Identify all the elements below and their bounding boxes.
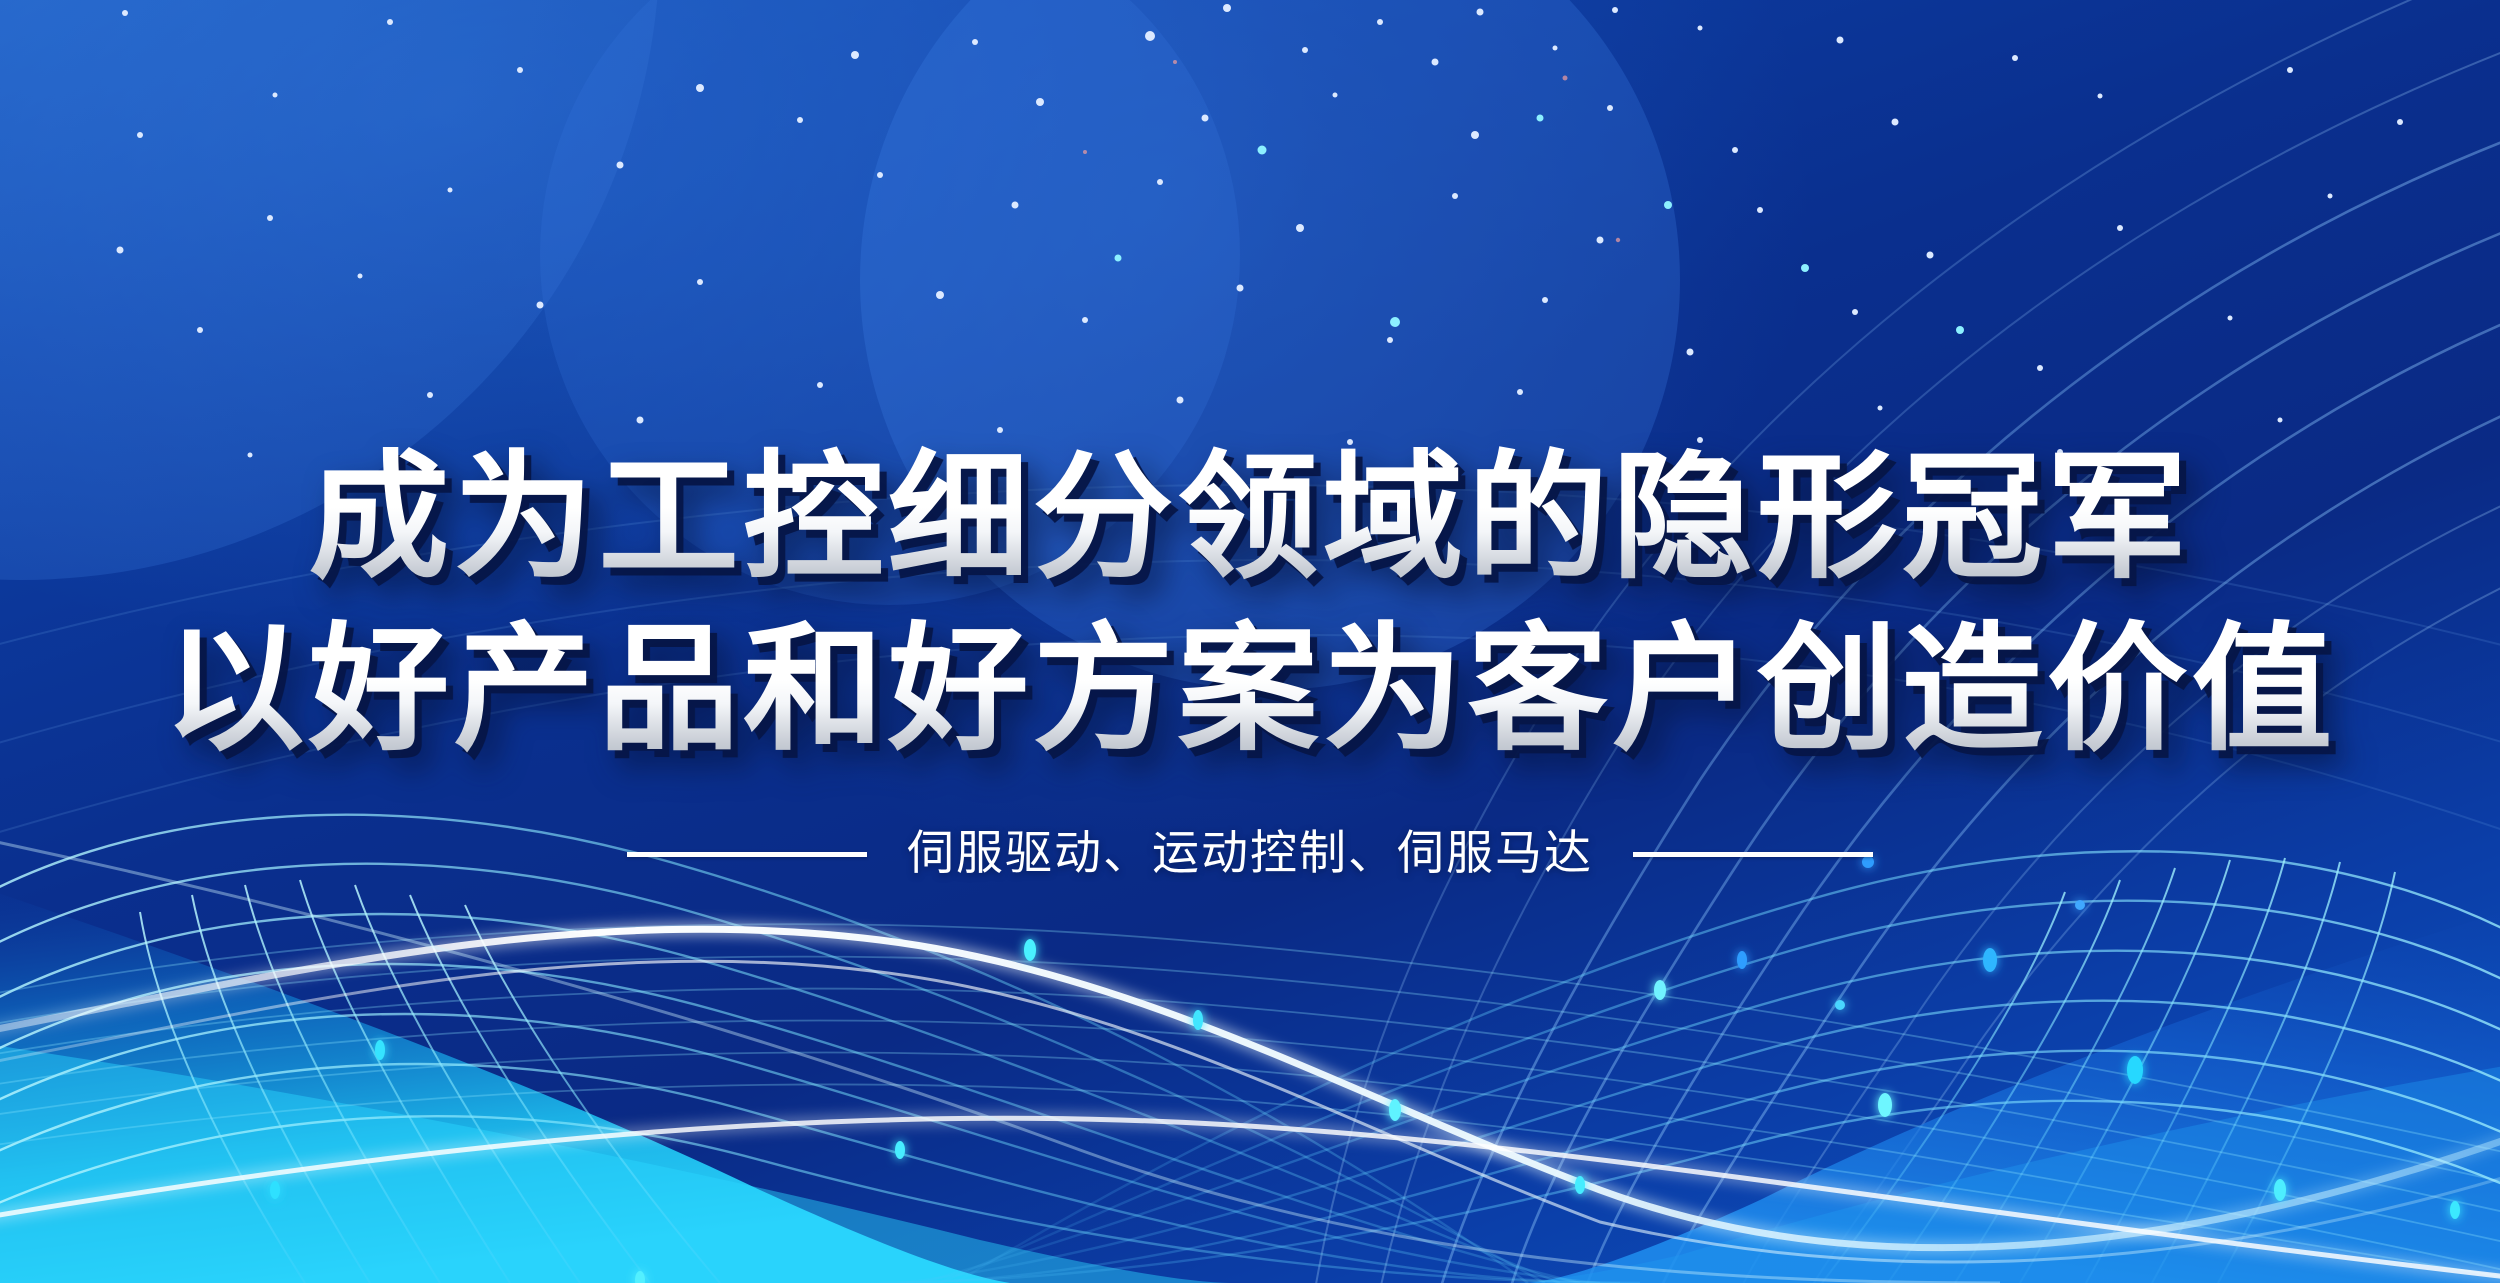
subtitle-rule-left (627, 852, 867, 857)
subtitle-text: 伺服驱动、运动控制、伺服马达 (907, 824, 1593, 884)
headline-block: 成为工控细分领域的隐形冠军 以好产品和好方案为客户创造价值 (0, 432, 2500, 776)
subtitle-block: 伺服驱动、运动控制、伺服马达 (0, 824, 2500, 884)
subtitle-rule-right (1633, 852, 1873, 857)
headline-line-1: 成为工控细分领域的隐形冠军 (0, 432, 2500, 604)
promo-banner: 成为工控细分领域的隐形冠军 以好产品和好方案为客户创造价值 伺服驱动、运动控制、… (0, 0, 2500, 1283)
headline-line-2: 以好产品和好方案为客户创造价值 (0, 604, 2500, 776)
